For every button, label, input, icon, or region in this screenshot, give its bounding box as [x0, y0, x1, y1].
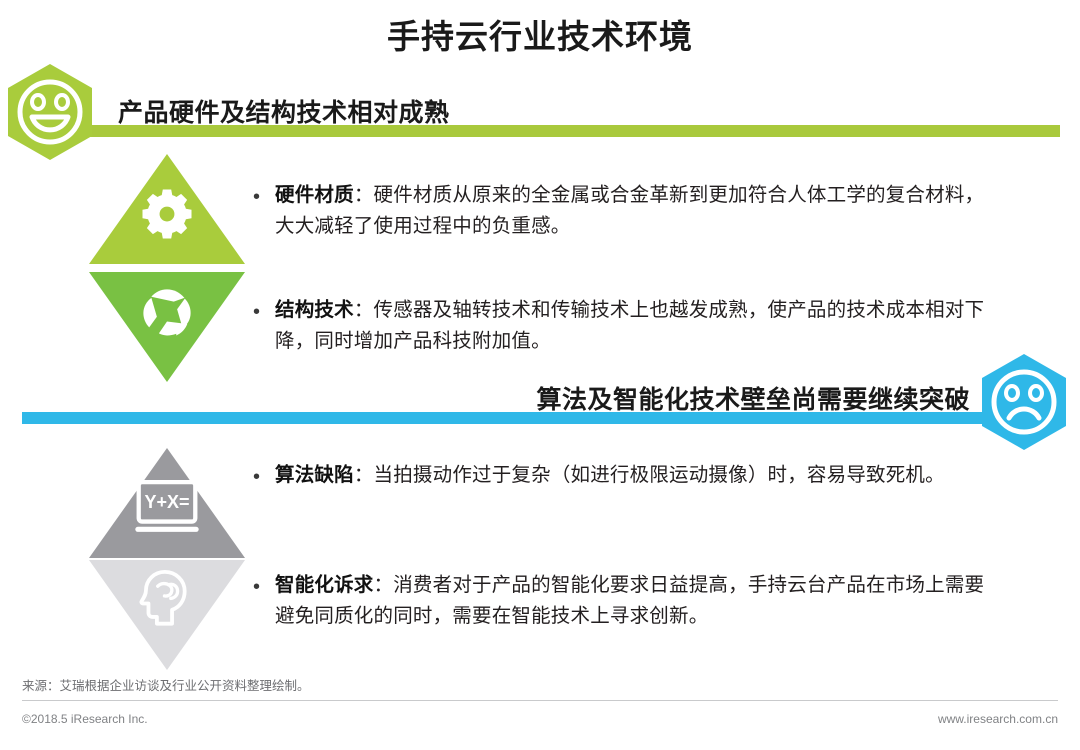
- source-note: 来源：艾瑞根据企业访谈及行业公开资料整理绘制。: [22, 675, 310, 694]
- bullet-marker: •: [253, 570, 275, 602]
- page-title: 手持云行业技术环境: [0, 10, 1080, 58]
- website-url: www.iresearch.com.cn: [938, 712, 1058, 726]
- bullet-lead: 结构技术: [275, 299, 354, 321]
- bullet-marker: •: [253, 180, 275, 212]
- bullet-text: 算法缺陷：当拍摄动作过于复杂（如进行极限运动摄像）时，容易导致死机。: [275, 460, 945, 491]
- bullet-text: 硬件材质：硬件材质从原来的全金属或合金革新到更加符合人体工学的复合材料，大大减轻…: [275, 180, 1003, 242]
- sad-face-icon: [978, 352, 1070, 452]
- copyright-text: ©2018.5 iResearch Inc.: [22, 712, 148, 726]
- gear-icon: [130, 182, 204, 246]
- svg-text:Y+X=: Y+X=: [144, 492, 189, 512]
- bullet-lead: 硬件材质: [275, 184, 354, 206]
- slide-canvas: 手持云行业技术环境 产品硬件及结构技术相对成熟 • 硬件材质：硬件材质从原来的全…: [0, 0, 1080, 750]
- section-heading-mature: 产品硬件及结构技术相对成熟: [118, 93, 450, 129]
- head-brain-icon: [131, 565, 203, 631]
- bullet-marker: •: [253, 295, 275, 327]
- bullet-text: 智能化诉求：消费者对于产品的智能化要求日益提高，手持云台产品在市场上需要避免同质…: [275, 570, 1003, 632]
- camera-aperture-icon: [133, 283, 201, 343]
- bullet-structure-tech: • 结构技术：传感器及轴转技术和传输技术上也越发成熟，使产品的技术成本相对下降，…: [253, 295, 1003, 357]
- smiley-face-icon: [4, 62, 96, 162]
- bullet-body: 硬件材质从原来的全金属或合金革新到更加符合人体工学的复合材料，大大减轻了使用过程…: [275, 184, 984, 237]
- laptop-equation-icon: Y+X=: [128, 476, 206, 538]
- footer-divider: [22, 700, 1058, 701]
- bullet-hardware-material: • 硬件材质：硬件材质从原来的全金属或合金革新到更加符合人体工学的复合材料，大大…: [253, 180, 1003, 242]
- bullet-lead: 智能化诉求: [275, 574, 374, 596]
- bullet-algorithm-flaw: • 算法缺陷：当拍摄动作过于复杂（如进行极限运动摄像）时，容易导致死机。: [253, 460, 1003, 492]
- bullet-intelligence-demand: • 智能化诉求：消费者对于产品的智能化要求日益提高，手持云台产品在市场上需要避免…: [253, 570, 1003, 632]
- bullet-separator: ：: [354, 299, 374, 321]
- bullet-separator: ：: [354, 464, 374, 486]
- bullet-body: 当拍摄动作过于复杂（如进行极限运动摄像）时，容易导致死机。: [374, 464, 945, 486]
- bullet-marker: •: [253, 460, 275, 492]
- section-heading-barriers: 算法及智能化技术壁垒尚需要继续突破: [536, 380, 970, 416]
- bullet-text: 结构技术：传感器及轴转技术和传输技术上也越发成熟，使产品的技术成本相对下降，同时…: [275, 295, 1003, 357]
- bullet-separator: ：: [374, 574, 394, 596]
- bullet-lead: 算法缺陷: [275, 464, 354, 486]
- bullet-body: 传感器及轴转技术和传输技术上也越发成熟，使产品的技术成本相对下降，同时增加产品科…: [275, 299, 984, 352]
- bullet-separator: ：: [354, 184, 374, 206]
